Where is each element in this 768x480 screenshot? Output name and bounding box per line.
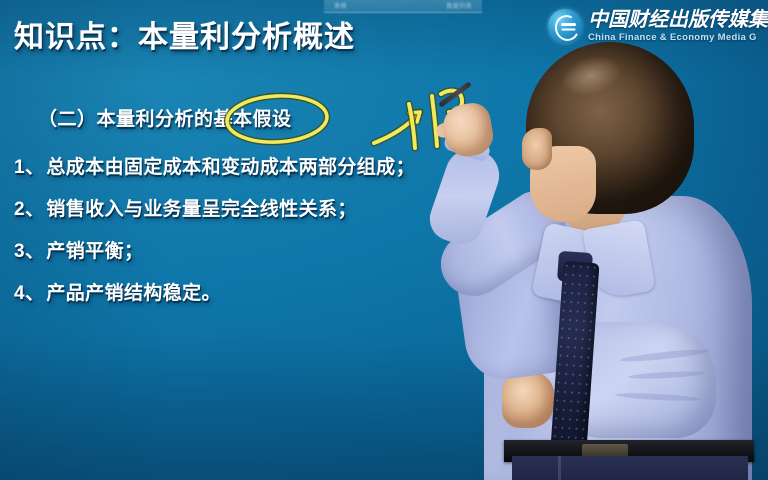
- presenter: [430, 0, 768, 480]
- residual-panel-left-text: 表格: [334, 1, 347, 10]
- publisher-watermark: 中国财经出版传媒集 China Finance & Economy Media …: [548, 6, 768, 46]
- publisher-name-cn: 中国财经出版传媒集: [588, 10, 768, 30]
- publisher-name-block: 中国财经出版传媒集 China Finance & Economy Media …: [588, 10, 768, 43]
- list-item-text: 销售收入与业务量呈完全线性关系；: [46, 199, 356, 220]
- list-item-text: 总成本由固定成本和变动成本两部分组成；: [46, 157, 415, 178]
- list-item: 1、总成本由固定成本和变动成本两部分组成；: [14, 152, 484, 179]
- presenter-trouser-crease: [558, 456, 561, 480]
- list-item-number: 2、: [14, 199, 44, 220]
- publisher-name-en: China Finance & Economy Media G: [588, 33, 768, 43]
- list-item: 3、产销平衡；: [14, 236, 484, 263]
- list-item-number: 4、: [14, 283, 44, 304]
- list-item-number: 3、: [14, 241, 44, 262]
- list-item-number: 1、: [14, 157, 44, 178]
- list-item: 2、销售收入与业务量呈完全线性关系；: [14, 194, 484, 221]
- globe-logo-icon: [548, 9, 582, 43]
- presenter-trousers: [512, 456, 748, 480]
- list-item-text: 产品产销结构稳定。: [46, 283, 221, 304]
- list-item: 4、产品产销结构稳定。: [14, 278, 484, 305]
- list-item-text: 产销平衡；: [46, 241, 143, 262]
- assumption-list: 1、总成本由固定成本和变动成本两部分组成； 2、销售收入与业务量呈完全线性关系；…: [14, 152, 484, 320]
- slide-subtitle: （二）本量利分析的基本假设: [38, 104, 292, 131]
- presenter-left-hand: [502, 372, 554, 428]
- slide-title: 知识点：本量利分析概述: [14, 12, 355, 56]
- video-frame: 表格 数据列表 知识点：本量利分析概述 （二）本量利分析的基本假设 1、总成本由…: [0, 0, 768, 480]
- presenter-ear: [522, 128, 552, 170]
